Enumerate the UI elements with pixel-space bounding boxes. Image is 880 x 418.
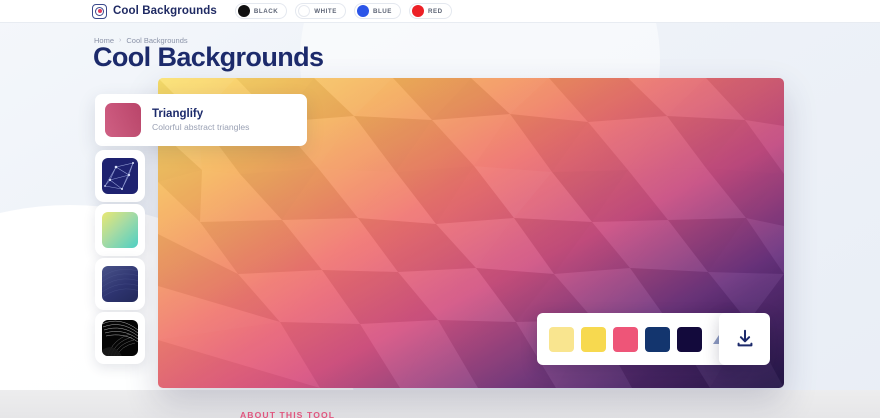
generator-thumbnail bbox=[105, 103, 141, 137]
color-dot-white bbox=[298, 5, 310, 17]
color-filter-pills: BLACK WHITE BLUE RED bbox=[235, 3, 452, 19]
brand-name: Cool Backgrounds bbox=[113, 5, 217, 17]
about-this-tool-heading: ABOUT THIS TOOL bbox=[240, 410, 335, 418]
color-pill-label: BLUE bbox=[373, 8, 392, 15]
thumbnail-trianglify-selected[interactable] bbox=[95, 150, 145, 202]
navy-waves-thumb-icon bbox=[102, 266, 138, 302]
color-pill-white[interactable]: WHITE bbox=[295, 3, 346, 19]
color-pill-label: RED bbox=[428, 8, 443, 15]
color-dot-red bbox=[412, 5, 424, 17]
page-footer-area bbox=[0, 390, 880, 418]
swatch-navy[interactable] bbox=[645, 327, 670, 352]
selected-generator-card[interactable]: Trianglify Colorful abstract triangles bbox=[95, 94, 307, 146]
color-pill-label: BLACK bbox=[254, 8, 278, 15]
app-root: Cool Backgrounds BLACK WHITE BLUE RED Ho… bbox=[0, 0, 880, 418]
page-title: Cool Backgrounds bbox=[93, 42, 323, 73]
download-button[interactable] bbox=[719, 313, 770, 365]
color-pill-label: WHITE bbox=[314, 8, 337, 15]
generator-title: Trianglify bbox=[152, 108, 249, 120]
swatch-dark-navy[interactable] bbox=[677, 327, 702, 352]
generator-subtitle: Colorful abstract triangles bbox=[152, 122, 249, 132]
brand-link[interactable]: Cool Backgrounds bbox=[92, 4, 217, 19]
swirl-thumb-icon bbox=[102, 320, 138, 356]
color-pill-blue[interactable]: BLUE bbox=[354, 3, 401, 19]
color-dot-blue bbox=[357, 5, 369, 17]
color-pill-red[interactable]: RED bbox=[409, 3, 452, 19]
swatch-pale-yellow[interactable] bbox=[549, 327, 574, 352]
constellation-thumb-icon bbox=[102, 158, 138, 194]
color-dot-black bbox=[238, 5, 250, 17]
generator-thumbnail-list bbox=[95, 150, 145, 364]
download-icon bbox=[734, 328, 756, 350]
thumbnail-gradient[interactable] bbox=[95, 204, 145, 256]
target-square-icon bbox=[92, 4, 107, 19]
thumbnail-swirl[interactable] bbox=[95, 312, 145, 364]
top-navbar: Cool Backgrounds BLACK WHITE BLUE RED bbox=[0, 0, 880, 23]
palette-toolbar bbox=[537, 313, 738, 365]
generator-text: Trianglify Colorful abstract triangles bbox=[152, 108, 249, 132]
color-pill-black[interactable]: BLACK bbox=[235, 3, 287, 19]
swatch-golden[interactable] bbox=[581, 327, 606, 352]
gradient-thumb-icon bbox=[102, 212, 138, 248]
swatch-pink[interactable] bbox=[613, 327, 638, 352]
thumbnail-navy-waves[interactable] bbox=[95, 258, 145, 310]
